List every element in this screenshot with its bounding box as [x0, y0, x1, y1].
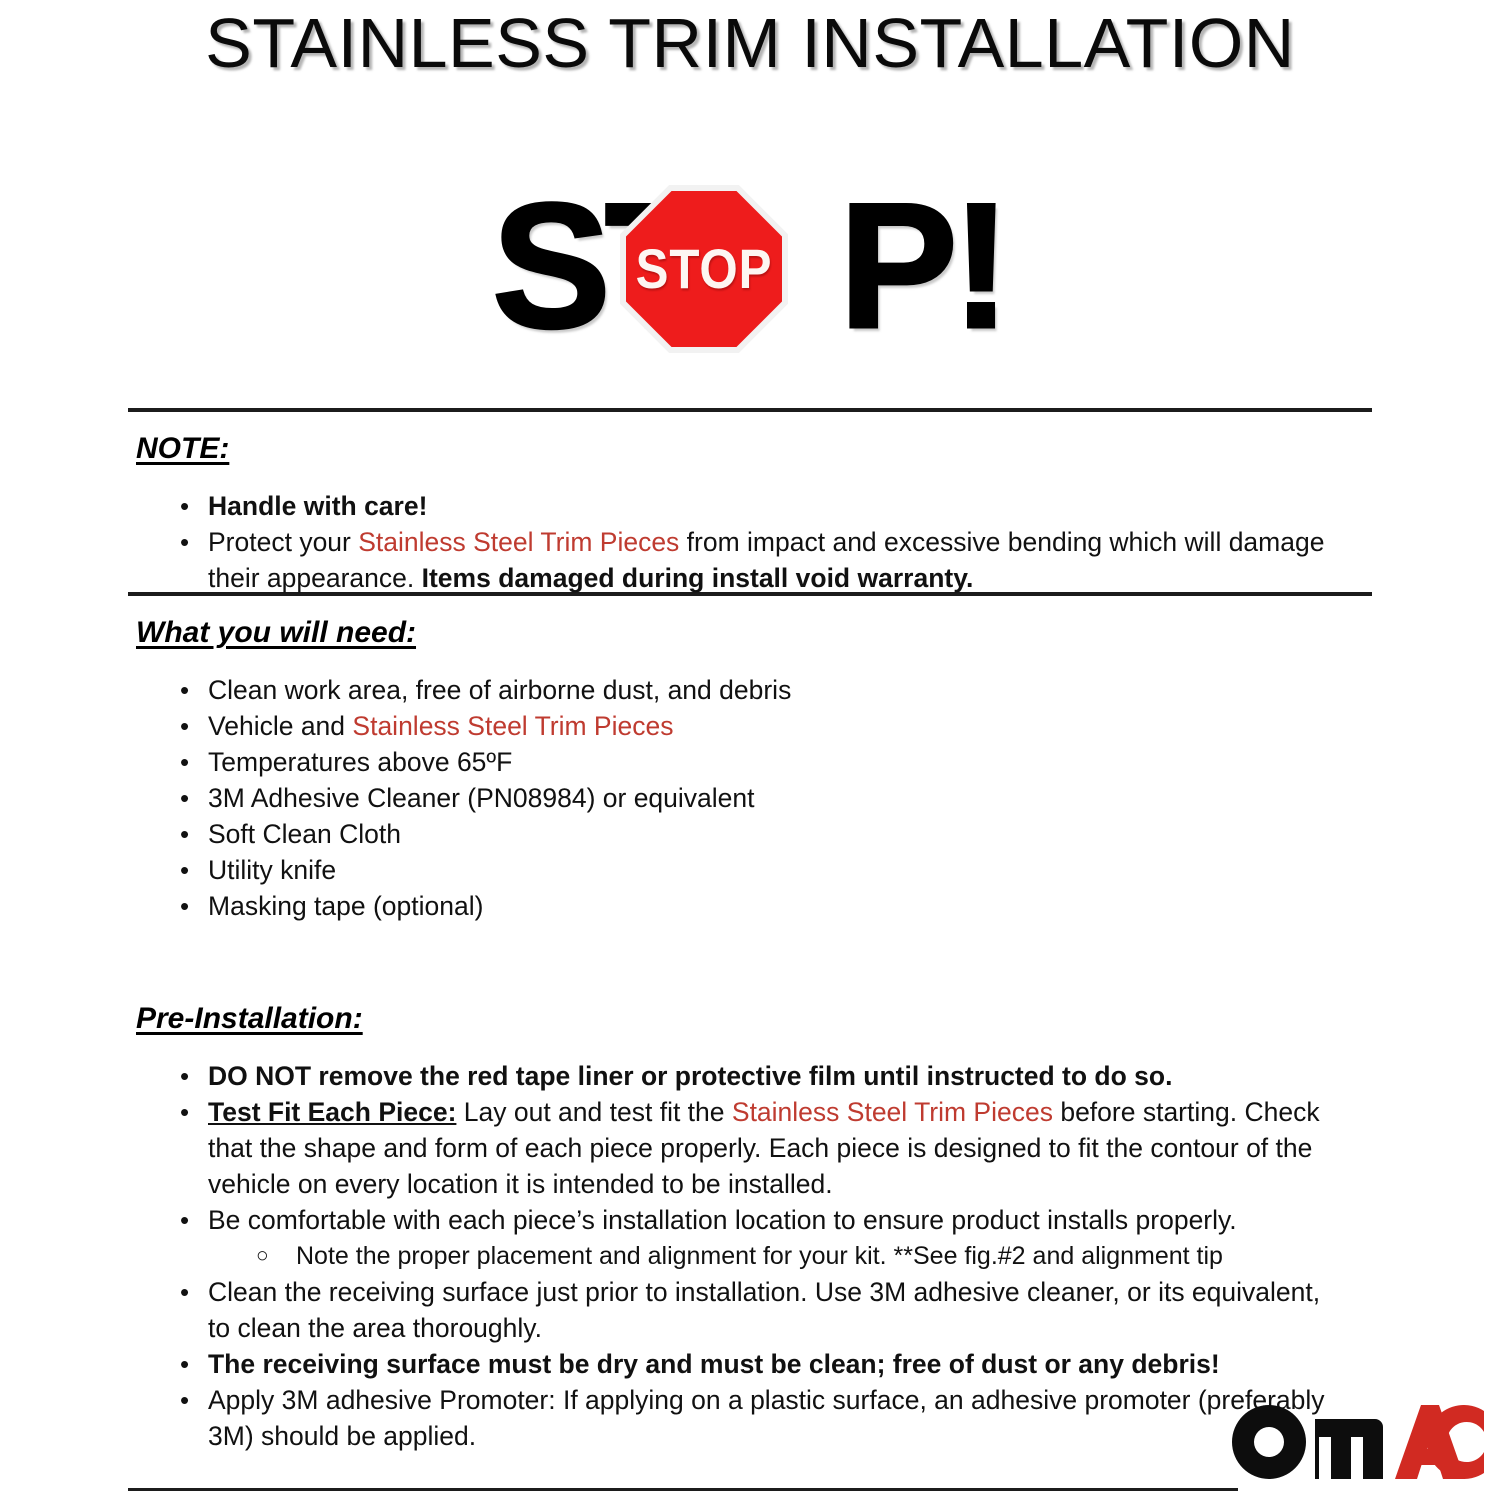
stop-sign-label: STOP: [630, 241, 778, 297]
pre-list-text: The receiving surface must be dry and mu…: [208, 1349, 1220, 1379]
bullet-icon: •: [180, 1058, 189, 1094]
pre-list-text: Test Fit Each Piece:: [208, 1097, 456, 1127]
need-list-text: Stainless Steel Trim Pieces: [352, 711, 673, 741]
pre-list-item: •Clean the receiving surface just prior …: [176, 1274, 1336, 1346]
section-heading-what-you-will-need: What you will need:: [136, 616, 416, 650]
pre-list-text: DO NOT remove the red tape liner or prot…: [208, 1061, 1172, 1091]
stop-sign-icon: STOP: [620, 185, 788, 353]
need-list-text: Clean work area, free of airborne dust, …: [208, 675, 791, 705]
pre-list-item: •Be comfortable with each piece’s instal…: [176, 1202, 1336, 1238]
stop-logo: ST STOP P!: [492, 178, 984, 358]
bullet-icon: •: [180, 488, 189, 524]
note-list-item: •Handle with care!: [176, 488, 1376, 524]
need-list-text: Masking tape (optional): [208, 891, 483, 921]
bullet-icon: •: [180, 744, 189, 780]
need-list-text: Vehicle and: [208, 711, 352, 741]
note-list-item: •Protect your Stainless Steel Trim Piece…: [176, 524, 1376, 596]
need-list-text: Soft Clean Cloth: [208, 819, 401, 849]
bullet-icon: •: [180, 672, 189, 708]
pre-list-item: •Apply 3M adhesive Promoter: If applying…: [176, 1382, 1336, 1454]
note-list-text: Stainless Steel Trim Pieces: [358, 527, 679, 557]
pre-list-text: Lay out and test fit the: [456, 1097, 731, 1127]
pre-list-text: Note the proper placement and alignment …: [296, 1242, 1223, 1270]
pre-list-item: •The receiving surface must be dry and m…: [176, 1346, 1336, 1382]
bullet-icon: •: [180, 1094, 189, 1130]
pre-installation-list: •DO NOT remove the red tape liner or pro…: [176, 1058, 1336, 1454]
need-list-item: •Vehicle and Stainless Steel Trim Pieces: [176, 708, 1376, 744]
pre-list-text: Clean the receiving surface just prior t…: [208, 1277, 1320, 1343]
note-list-text: Handle with care!: [208, 491, 427, 521]
note-list: •Handle with care!•Protect your Stainles…: [176, 488, 1376, 596]
what-you-will-need-list: •Clean work area, free of airborne dust,…: [176, 672, 1376, 924]
pre-list-item: •DO NOT remove the red tape liner or pro…: [176, 1058, 1336, 1094]
bullet-icon: •: [180, 1346, 189, 1382]
pre-list-text: Be comfortable with each piece’s install…: [208, 1205, 1237, 1235]
bullet-icon: •: [180, 1202, 189, 1238]
bullet-icon: •: [180, 1382, 189, 1418]
bullet-icon: •: [180, 888, 189, 924]
need-list-item: •Utility knife: [176, 852, 1376, 888]
need-list-text: Temperatures above 65ºF: [208, 747, 512, 777]
bullet-icon: •: [180, 524, 189, 560]
pre-list-text: Stainless Steel Trim Pieces: [732, 1097, 1053, 1127]
need-list-item: •3M Adhesive Cleaner (PN08984) or equiva…: [176, 780, 1376, 816]
stop-logo-tail-text: P!: [839, 178, 1005, 353]
pre-list-sub-item: ○Note the proper placement and alignment…: [256, 1238, 1336, 1274]
page-title: STAINLESS TRIM INSTALLATION: [0, 8, 1500, 78]
omac-logo: [1232, 1405, 1484, 1479]
section-heading-note: NOTE:: [136, 432, 229, 466]
bullet-icon: •: [180, 708, 189, 744]
bullet-icon: •: [180, 852, 189, 888]
need-list-item: •Clean work area, free of airborne dust,…: [176, 672, 1376, 708]
bullet-icon: •: [180, 816, 189, 852]
need-list-text: Utility knife: [208, 855, 336, 885]
sub-bullet-icon: ○: [256, 1238, 269, 1274]
need-list-item: •Masking tape (optional): [176, 888, 1376, 924]
omac-logo-mark: [1232, 1405, 1484, 1479]
note-list-text: Protect your: [208, 527, 358, 557]
bullet-icon: •: [180, 1274, 189, 1310]
need-list-item: •Soft Clean Cloth: [176, 816, 1376, 852]
divider-top: [128, 408, 1372, 412]
need-list-item: •Temperatures above 65ºF: [176, 744, 1376, 780]
section-heading-pre-installation: Pre-Installation:: [136, 1002, 363, 1036]
note-list-text: Items damaged during install void warran…: [422, 563, 974, 593]
pre-list-text: Apply 3M adhesive Promoter: If applying …: [208, 1385, 1325, 1451]
need-list-text: 3M Adhesive Cleaner (PN08984) or equival…: [208, 783, 755, 813]
pre-list-item: •Test Fit Each Piece: Lay out and test f…: [176, 1094, 1336, 1202]
bullet-icon: •: [180, 780, 189, 816]
divider-bottom: [128, 1488, 1238, 1491]
